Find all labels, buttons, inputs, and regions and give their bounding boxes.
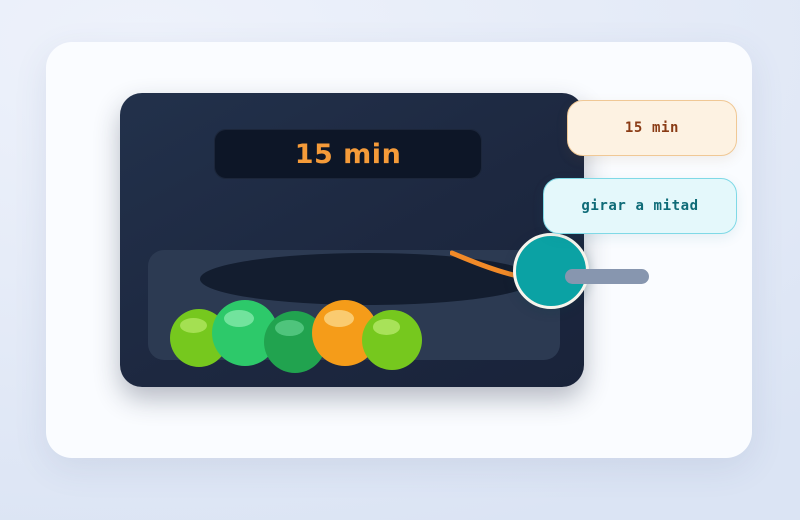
oven-timer-display: 15 min	[214, 129, 482, 179]
baking-pan	[200, 253, 536, 305]
timer-value: 15 min	[295, 139, 402, 170]
illustration-scene: 15 min 15 min girar a mitad	[0, 0, 800, 520]
food-highlight	[275, 320, 304, 336]
callout-flip-halfway: girar a mitad	[543, 178, 737, 234]
food-highlight	[373, 319, 401, 335]
callout-cook-time-label: 15 min	[625, 120, 679, 136]
food-highlight	[180, 318, 207, 333]
oven-dial-handle[interactable]	[565, 269, 649, 284]
oven-appliance: 15 min	[120, 93, 584, 387]
brussels-sprout-5	[362, 310, 422, 370]
food-highlight	[324, 310, 354, 327]
food-highlight	[224, 310, 254, 327]
callout-cook-time: 15 min	[567, 100, 737, 156]
callout-flip-halfway-label: girar a mitad	[581, 198, 698, 214]
